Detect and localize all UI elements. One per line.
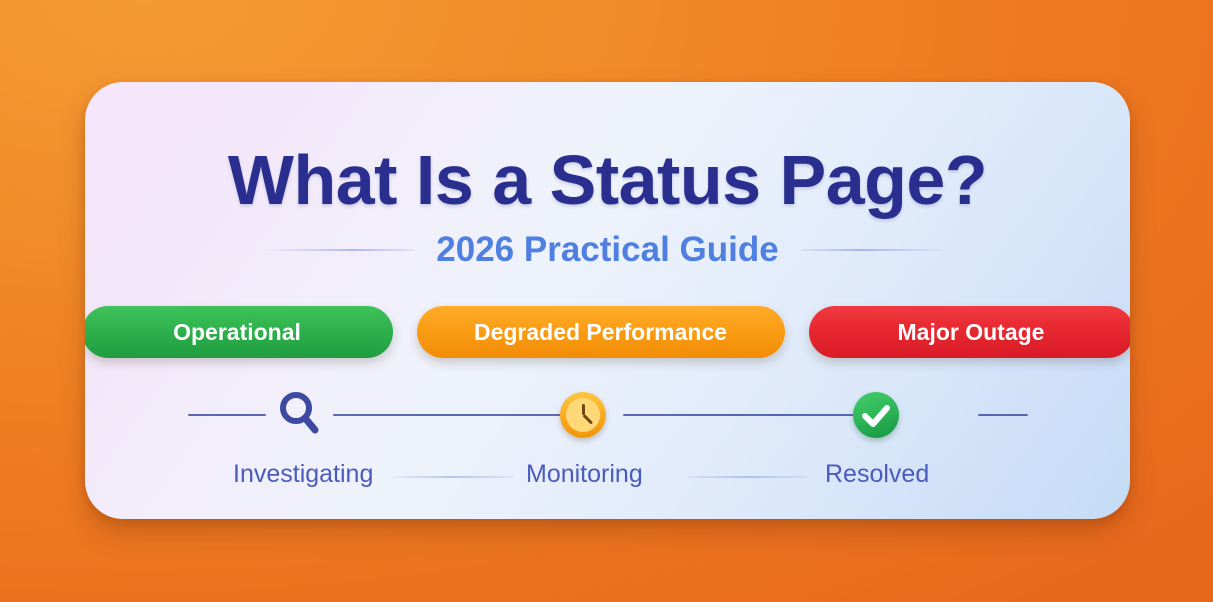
status-pill-group: Operational Degraded Performance Major O… bbox=[85, 306, 1130, 358]
subtitle-row: 2026 Practical Guide bbox=[85, 230, 1130, 270]
subtitle-rule-right bbox=[801, 249, 951, 251]
timeline-label-rule-2 bbox=[688, 476, 808, 478]
timeline-label-row: Investigating Monitoring Resolved bbox=[188, 460, 1028, 494]
subtitle-rule-left bbox=[264, 249, 414, 251]
timeline-connector-1 bbox=[333, 414, 583, 416]
magnifier-icon bbox=[273, 387, 325, 444]
status-badge-degraded-performance[interactable]: Degraded Performance bbox=[417, 306, 785, 358]
timeline-label-investigating: Investigating bbox=[233, 460, 373, 489]
status-badge-major-outage[interactable]: Major Outage bbox=[809, 306, 1131, 358]
page-title: What Is a Status Page? bbox=[85, 140, 1130, 220]
clock-icon bbox=[560, 392, 606, 438]
check-circle-icon bbox=[853, 392, 899, 438]
timeline-step-monitoring[interactable] bbox=[550, 382, 616, 448]
timeline-label-rule-1 bbox=[393, 476, 513, 478]
status-badge-operational[interactable]: Operational bbox=[85, 306, 393, 358]
poster-background: What Is a Status Page? 2026 Practical Gu… bbox=[0, 0, 1213, 602]
page-subtitle: 2026 Practical Guide bbox=[436, 230, 778, 270]
incident-timeline: Investigating Monitoring Resolved bbox=[188, 398, 1028, 498]
timeline-connector-end bbox=[978, 414, 1028, 416]
timeline-connector-start bbox=[188, 414, 266, 416]
timeline-step-investigating[interactable] bbox=[266, 382, 332, 448]
status-page-card: What Is a Status Page? 2026 Practical Gu… bbox=[85, 82, 1130, 519]
timeline-label-monitoring: Monitoring bbox=[526, 460, 643, 489]
timeline-step-resolved[interactable] bbox=[843, 382, 909, 448]
timeline-label-resolved: Resolved bbox=[825, 460, 929, 489]
timeline-connector-2 bbox=[623, 414, 863, 416]
